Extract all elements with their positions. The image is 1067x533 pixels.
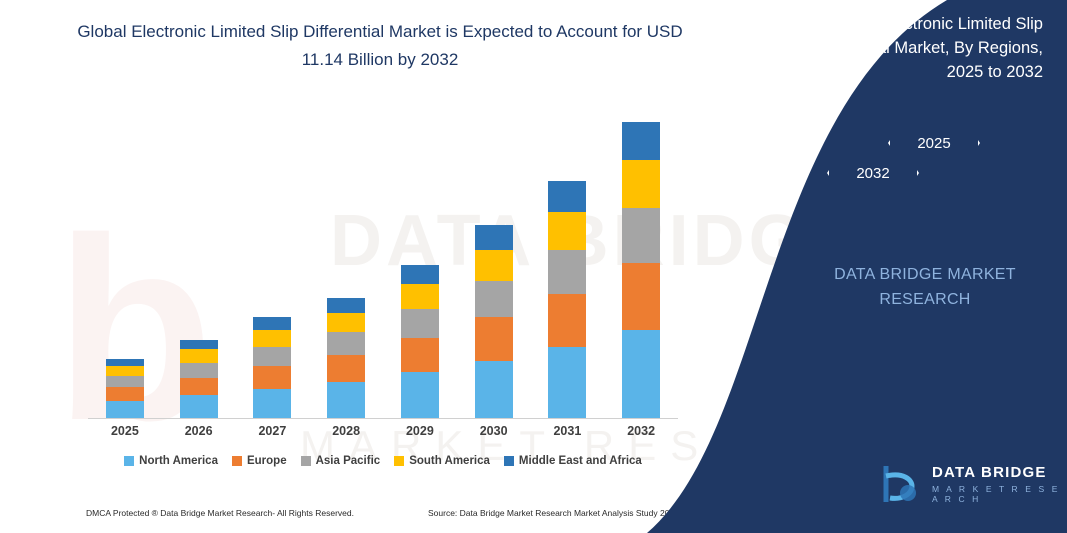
bar-segment (475, 225, 513, 250)
bar-segment (253, 330, 291, 347)
bar-column (253, 317, 291, 418)
bar-segment (622, 160, 660, 208)
bar-segment (327, 355, 365, 382)
x-tick-label: 2028 (311, 424, 381, 438)
legend-item[interactable]: Middle East and Africa (504, 455, 642, 467)
legend-item[interactable]: Asia Pacific (301, 455, 381, 467)
x-tick-label: 2027 (237, 424, 307, 438)
bar-segment (622, 330, 660, 418)
logo-text-main: DATA BRIDGE (932, 464, 1067, 481)
right-panel-title: Global Electronic Limited Slip Different… (773, 12, 1043, 84)
chart-title: Global Electronic Limited Slip Different… (60, 18, 700, 74)
bar-segment (475, 317, 513, 361)
x-tick-label: 2032 (606, 424, 676, 438)
footer-copyright: DMCA Protected ® Data Bridge Market Rese… (86, 508, 354, 518)
stacked-bar-chart (88, 100, 678, 418)
brand-line-1: DATA BRIDGE MARKET (790, 262, 1060, 287)
bar-segment (106, 366, 144, 376)
x-tick-label: 2025 (90, 424, 160, 438)
bar-segment (475, 281, 513, 317)
hexagon-2032-label: 2032 (856, 165, 889, 182)
bar-column (401, 265, 439, 418)
bar-segment (327, 382, 365, 418)
footer-source: Source: Data Bridge Market Research Mark… (428, 508, 679, 518)
legend-swatch-icon (124, 456, 134, 466)
legend-swatch-icon (394, 456, 404, 466)
bar-column (475, 225, 513, 418)
bar-segment (180, 340, 218, 350)
bar-segment (106, 387, 144, 400)
bar-segment (548, 294, 586, 347)
x-axis-line (88, 418, 678, 419)
bar-segment (180, 349, 218, 362)
bar-segment (180, 395, 218, 418)
legend-item[interactable]: South America (394, 455, 490, 467)
bar-segment (548, 347, 586, 418)
x-axis-tick-labels: 20252026202720282029203020312032 (88, 424, 678, 446)
legend-swatch-icon (504, 456, 514, 466)
legend-item[interactable]: Europe (232, 455, 287, 467)
x-tick-label: 2031 (532, 424, 602, 438)
x-tick-label: 2026 (164, 424, 234, 438)
bar-segment (180, 363, 218, 378)
bar-segment (548, 212, 586, 250)
bar-segment (622, 122, 660, 160)
legend-swatch-icon (301, 456, 311, 466)
bar-segment (401, 309, 439, 338)
brand-name: DATA BRIDGE MARKET RESEARCH (790, 262, 1060, 312)
bar-segment (401, 265, 439, 284)
chart-legend: North AmericaEuropeAsia PacificSouth Ame… (88, 455, 678, 467)
legend-label: South America (409, 455, 490, 467)
bar-column (327, 298, 365, 418)
legend-label: Europe (247, 455, 287, 467)
bar-segment (106, 401, 144, 418)
bar-segment (622, 208, 660, 263)
bar-segment (180, 378, 218, 395)
logo-text-sub: M A R K E T R E S E A R C H (932, 484, 1067, 504)
brand-line-2: RESEARCH (790, 287, 1060, 312)
bar-column (622, 122, 660, 418)
bar-segment (622, 263, 660, 330)
bar-column (106, 359, 144, 418)
bar-segment (327, 298, 365, 313)
bar-segment (548, 250, 586, 294)
bar-segment (327, 332, 365, 355)
bar-segment (475, 361, 513, 418)
bar-segment (327, 313, 365, 332)
bar-segment (253, 347, 291, 366)
x-tick-label: 2030 (459, 424, 529, 438)
bar-segment (475, 250, 513, 281)
bar-column (180, 340, 218, 418)
bar-segment (401, 284, 439, 309)
bar-segment (253, 389, 291, 418)
legend-label: Middle East and Africa (519, 455, 642, 467)
bar-segment (401, 372, 439, 418)
hexagon-2025-label: 2025 (917, 135, 950, 152)
legend-item[interactable]: North America (124, 455, 218, 467)
legend-swatch-icon (232, 456, 242, 466)
bar-segment (253, 366, 291, 389)
legend-label: Asia Pacific (316, 455, 381, 467)
bar-segment (548, 181, 586, 212)
legend-label: North America (139, 455, 218, 467)
x-tick-label: 2029 (385, 424, 455, 438)
bar-segment (253, 317, 291, 330)
bar-column (548, 181, 586, 418)
company-logo: DATA BRIDGE M A R K E T R E S E A R C H (878, 462, 1067, 506)
bar-segment (401, 338, 439, 372)
data-bridge-logo-icon (878, 462, 922, 506)
bar-segment (106, 359, 144, 367)
bar-segment (106, 376, 144, 387)
